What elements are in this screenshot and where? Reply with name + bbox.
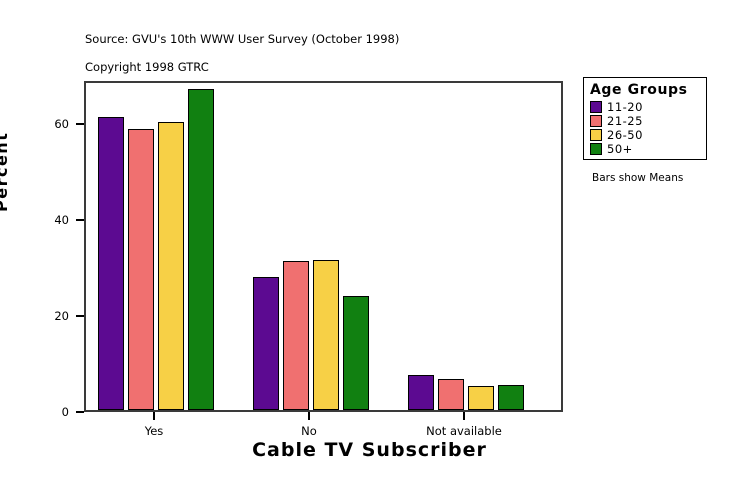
y-tick-mark bbox=[76, 123, 84, 125]
bar-yes-50+ bbox=[188, 89, 214, 410]
y-tick-mark bbox=[76, 315, 84, 317]
bar-not-available-11-20 bbox=[408, 375, 434, 410]
bar-not-available-50+ bbox=[498, 385, 524, 410]
y-axis-title: Percent bbox=[0, 132, 11, 212]
copyright-annotation: Copyright 1998 GTRC bbox=[85, 60, 209, 74]
bar-no-26-50 bbox=[313, 260, 339, 410]
y-tick-mark bbox=[76, 219, 84, 221]
y-tick-mark bbox=[76, 411, 84, 413]
y-tick-label: 40 bbox=[39, 213, 69, 227]
bars-show-means-note: Bars show Means bbox=[592, 172, 683, 184]
bar-yes-26-50 bbox=[158, 122, 184, 410]
x-tick-mark bbox=[308, 412, 310, 420]
y-tick-label: 60 bbox=[39, 117, 69, 131]
bar-not-available-21-25 bbox=[438, 379, 464, 410]
legend-entry-label: 21-25 bbox=[607, 114, 643, 128]
legend-entry-11-20: 11-20 bbox=[590, 100, 700, 114]
bars-layer bbox=[86, 83, 561, 410]
x-tick-mark bbox=[463, 412, 465, 420]
bar-yes-11-20 bbox=[98, 117, 124, 410]
legend-swatch-icon bbox=[590, 115, 602, 127]
bar-not-available-26-50 bbox=[468, 386, 494, 410]
legend-entry-label: 50+ bbox=[607, 142, 633, 156]
bar-no-21-25 bbox=[283, 261, 309, 410]
x-tick-label-yes: Yes bbox=[145, 424, 164, 438]
bar-no-11-20 bbox=[253, 277, 279, 410]
legend-entry-label: 11-20 bbox=[607, 100, 643, 114]
legend-swatch-icon bbox=[590, 143, 602, 155]
legend-swatch-icon bbox=[590, 129, 602, 141]
y-tick-label: 20 bbox=[39, 309, 69, 323]
source-annotation: Source: GVU's 10th WWW User Survey (Octo… bbox=[85, 32, 399, 46]
legend: Age Groups 11-2021-2526-5050+ bbox=[583, 77, 707, 160]
legend-title: Age Groups bbox=[590, 82, 700, 98]
legend-entries: 11-2021-2526-5050+ bbox=[590, 100, 700, 156]
legend-entry-50+: 50+ bbox=[590, 142, 700, 156]
legend-swatch-icon bbox=[590, 101, 602, 113]
x-tick-mark bbox=[153, 412, 155, 420]
bar-yes-21-25 bbox=[128, 129, 154, 410]
legend-entry-label: 26-50 bbox=[607, 128, 643, 142]
y-tick-label: 0 bbox=[39, 405, 69, 419]
bar-no-50+ bbox=[343, 296, 369, 410]
legend-entry-26-50: 26-50 bbox=[590, 128, 700, 142]
x-axis-title: Cable TV Subscriber bbox=[0, 439, 739, 461]
plot-area bbox=[84, 81, 563, 412]
legend-entry-21-25: 21-25 bbox=[590, 114, 700, 128]
x-tick-label-no: No bbox=[301, 424, 317, 438]
x-tick-label-not-available: Not available bbox=[426, 424, 502, 438]
